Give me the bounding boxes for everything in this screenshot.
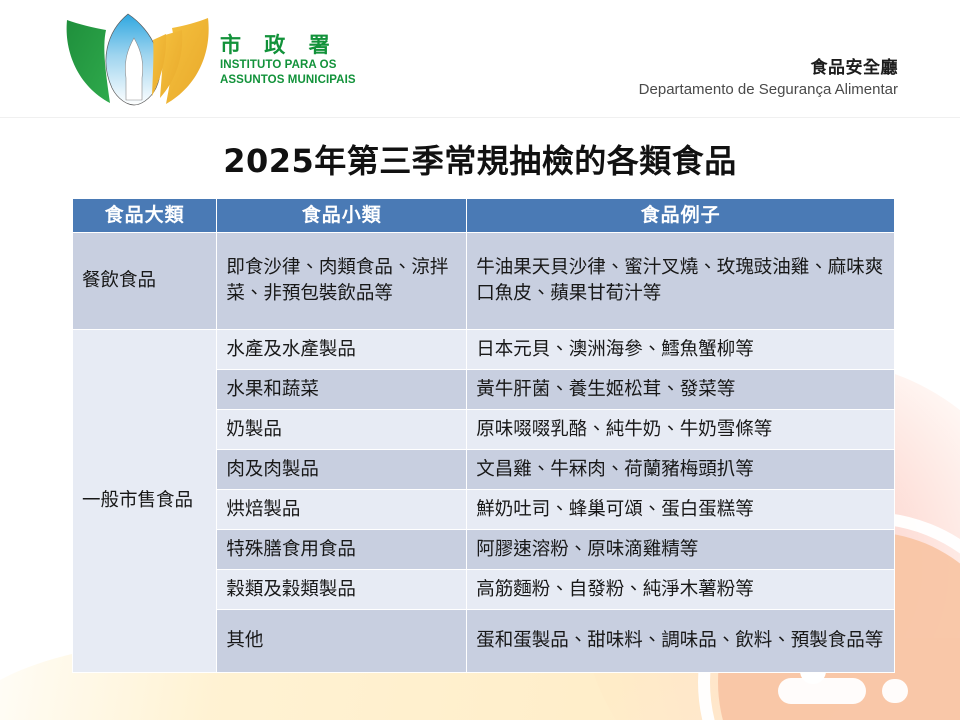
page-header: 市 政 署 INSTITUTO PARA OS ASSUNTOS MUNICIP…: [0, 0, 960, 118]
cell-minor-category: 穀類及穀類製品: [217, 570, 466, 609]
cell-example: 鮮奶吐司、蜂巢可頌、蛋白蛋糕等: [467, 490, 894, 529]
department-title: 食品安全廳 Departamento de Segurança Alimenta…: [639, 58, 898, 100]
cell-example: 高筋麵粉、自發粉、純淨木薯粉等: [467, 570, 894, 609]
cell-example: 阿膠速溶粉、原味滴雞精等: [467, 530, 894, 569]
column-header-examples: 食品例子: [467, 199, 894, 232]
cell-minor-category: 水產及水產製品: [217, 330, 466, 369]
food-categories-table: 食品大類 食品小類 食品例子 餐飲食品 即食沙律、肉類食品、涼拌菜、非預包裝飲品…: [72, 198, 895, 673]
cell-minor-category: 奶製品: [217, 410, 466, 449]
table-header: 食品大類 食品小類 食品例子: [73, 199, 894, 232]
cell-minor-category: 烘焙製品: [217, 490, 466, 529]
cell-example: 日本元貝、澳洲海參、鱈魚蟹柳等: [467, 330, 894, 369]
iam-brand-logo: 市 政 署 INSTITUTO PARA OS ASSUNTOS MUNICIP…: [62, 6, 362, 110]
cell-minor-category: 水果和蔬菜: [217, 370, 466, 409]
department-name-portuguese: Departamento de Segurança Alimentar: [639, 80, 898, 100]
logo-portuguese-line2: ASSUNTOS MUNICIPAIS: [220, 73, 356, 88]
food-categories-table-container: 食品大類 食品小類 食品例子 餐飲食品 即食沙律、肉類食品、涼拌菜、非預包裝飲品…: [72, 198, 895, 673]
department-name-chinese: 食品安全廳: [639, 58, 898, 79]
cell-example: 文昌雞、牛冧肉、荷蘭豬梅頭扒等: [467, 450, 894, 489]
table-row: 餐飲食品 即食沙律、肉類食品、涼拌菜、非預包裝飲品等 牛油果天貝沙律、蜜汁叉燒、…: [73, 233, 894, 329]
cell-example: 黃牛肝菌、養生姬松茸、發菜等: [467, 370, 894, 409]
cell-major-category: 餐飲食品: [73, 233, 216, 329]
table-row: 一般市售食品 水產及水產製品 日本元貝、澳洲海參、鱈魚蟹柳等: [73, 330, 894, 369]
table-header-row: 食品大類 食品小類 食品例子: [73, 199, 894, 232]
cell-minor-category: 即食沙律、肉類食品、涼拌菜、非預包裝飲品等: [217, 233, 466, 329]
logo-portuguese-line1: INSTITUTO PARA OS: [220, 58, 356, 73]
cell-major-category: 一般市售食品: [73, 330, 216, 672]
cell-example: 蛋和蛋製品、甜味料、調味品、飲料、預製食品等: [467, 610, 894, 672]
cell-example: 牛油果天貝沙律、蜜汁叉燒、玫瑰豉油雞、麻味爽口魚皮、蘋果甘荀汁等: [467, 233, 894, 329]
iam-lotus-logo-icon: [62, 8, 214, 108]
column-header-minor-category: 食品小類: [217, 199, 466, 232]
cell-minor-category: 肉及肉製品: [217, 450, 466, 489]
cell-example: 原味啜啜乳酪、純牛奶、牛奶雪條等: [467, 410, 894, 449]
page-title: 2025年第三季常規抽檢的各類食品: [0, 136, 960, 182]
table-body: 餐飲食品 即食沙律、肉類食品、涼拌菜、非預包裝飲品等 牛油果天貝沙律、蜜汁叉燒、…: [73, 233, 894, 672]
cell-minor-category: 其他: [217, 610, 466, 672]
dash-long-icon: [778, 678, 866, 704]
cell-minor-category: 特殊膳食用食品: [217, 530, 466, 569]
logo-chinese-name: 市 政 署: [220, 32, 356, 58]
logo-text-block: 市 政 署 INSTITUTO PARA OS ASSUNTOS MUNICIP…: [220, 28, 356, 88]
dash-short-icon: [882, 679, 908, 703]
column-header-major-category: 食品大類: [73, 199, 216, 232]
